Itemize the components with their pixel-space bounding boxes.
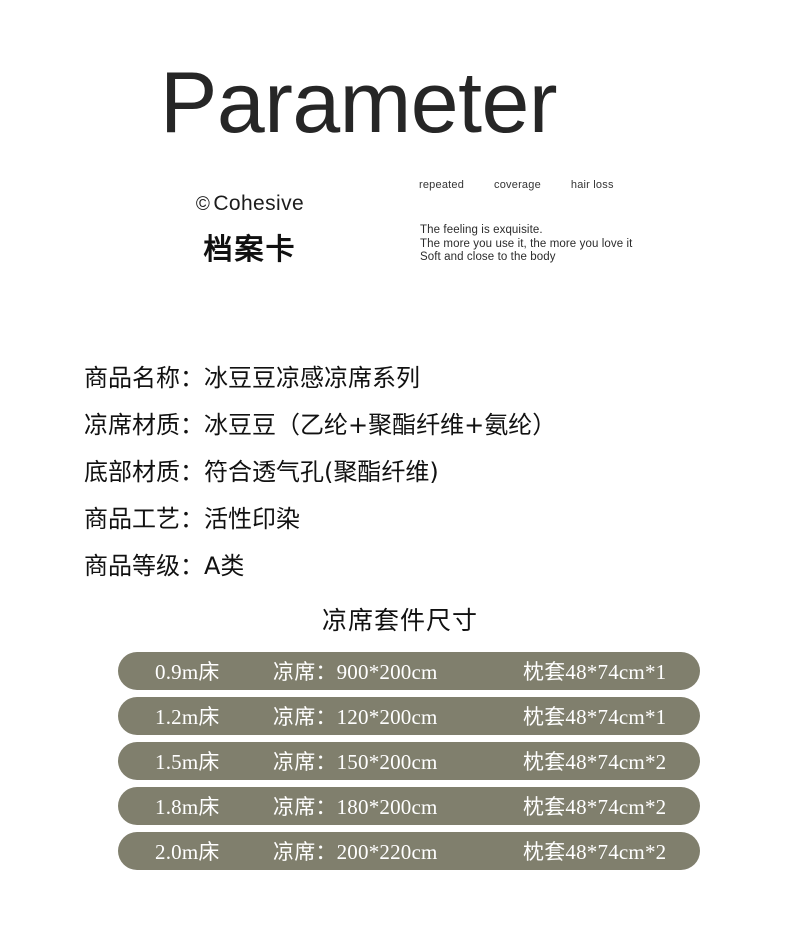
size-bed: 2.0m床 xyxy=(118,836,273,866)
tagline-line-2: The more you use it, the more you love i… xyxy=(420,238,632,252)
size-mat: 凉席：150*200cm xyxy=(273,746,518,776)
parameter-spec-page: { "header": { "title": "Parameter", "bra… xyxy=(0,0,790,938)
spec-row-mat-material: 凉席材质：冰豆豆（乙纶+聚酯纤维+氨纶） xyxy=(84,402,704,449)
size-bed: 1.5m床 xyxy=(118,746,273,776)
tagline-block: The feeling is exquisite. The more you u… xyxy=(420,224,632,265)
copyright-icon: © xyxy=(196,194,210,215)
size-mat: 凉席：120*200cm xyxy=(273,701,518,731)
brand-block: ©Cohesive 档案卡 xyxy=(120,192,380,268)
size-mat: 凉席：180*200cm xyxy=(273,791,518,821)
spec-list: 商品名称：冰豆豆凉感凉席系列 凉席材质：冰豆豆（乙纶+聚酯纤维+氨纶） 底部材质… xyxy=(84,355,704,590)
tagline-line-1: The feeling is exquisite. xyxy=(420,224,632,238)
table-row: 1.2m床 凉席：120*200cm 枕套48*74cm*1 xyxy=(118,697,700,735)
keyword-row: repeated coverage hair loss xyxy=(419,179,614,191)
table-row: 2.0m床 凉席：200*220cm 枕套48*74cm*2 xyxy=(118,832,700,870)
spec-row-bottom-material: 底部材质：符合透气孔(聚酯纤维) xyxy=(84,449,704,496)
size-pillow: 枕套48*74cm*1 xyxy=(518,701,700,731)
size-table-heading: 凉席套件尺寸 xyxy=(0,601,790,637)
brand-chinese-label: 档案卡 xyxy=(120,226,380,268)
size-pillow: 枕套48*74cm*2 xyxy=(518,791,700,821)
size-pillow: 枕套48*74cm*2 xyxy=(518,746,700,776)
size-pillow: 枕套48*74cm*1 xyxy=(518,656,700,686)
spec-row-craft: 商品工艺：活性印染 xyxy=(84,496,704,543)
size-bed: 1.2m床 xyxy=(118,701,273,731)
keyword-repeated: repeated xyxy=(419,179,464,191)
keyword-hair-loss: hair loss xyxy=(571,179,614,191)
brand-name: Cohesive xyxy=(213,192,304,215)
size-bed: 0.9m床 xyxy=(118,656,273,686)
brand-name-line: ©Cohesive xyxy=(120,192,380,216)
table-row: 1.8m床 凉席：180*200cm 枕套48*74cm*2 xyxy=(118,787,700,825)
size-pillow: 枕套48*74cm*2 xyxy=(518,836,700,866)
table-row: 0.9m床 凉席：900*200cm 枕套48*74cm*1 xyxy=(118,652,700,690)
page-title: Parameter xyxy=(160,58,557,148)
size-mat: 凉席：900*200cm xyxy=(273,656,518,686)
spec-row-product-name: 商品名称：冰豆豆凉感凉席系列 xyxy=(84,355,704,402)
size-mat: 凉席：200*220cm xyxy=(273,836,518,866)
size-bed: 1.8m床 xyxy=(118,791,273,821)
spec-row-grade: 商品等级：A类 xyxy=(84,543,704,590)
table-row: 1.5m床 凉席：150*200cm 枕套48*74cm*2 xyxy=(118,742,700,780)
tagline-line-3: Soft and close to the body xyxy=(420,251,632,265)
keyword-coverage: coverage xyxy=(494,179,541,191)
size-table: 0.9m床 凉席：900*200cm 枕套48*74cm*1 1.2m床 凉席：… xyxy=(118,652,700,877)
